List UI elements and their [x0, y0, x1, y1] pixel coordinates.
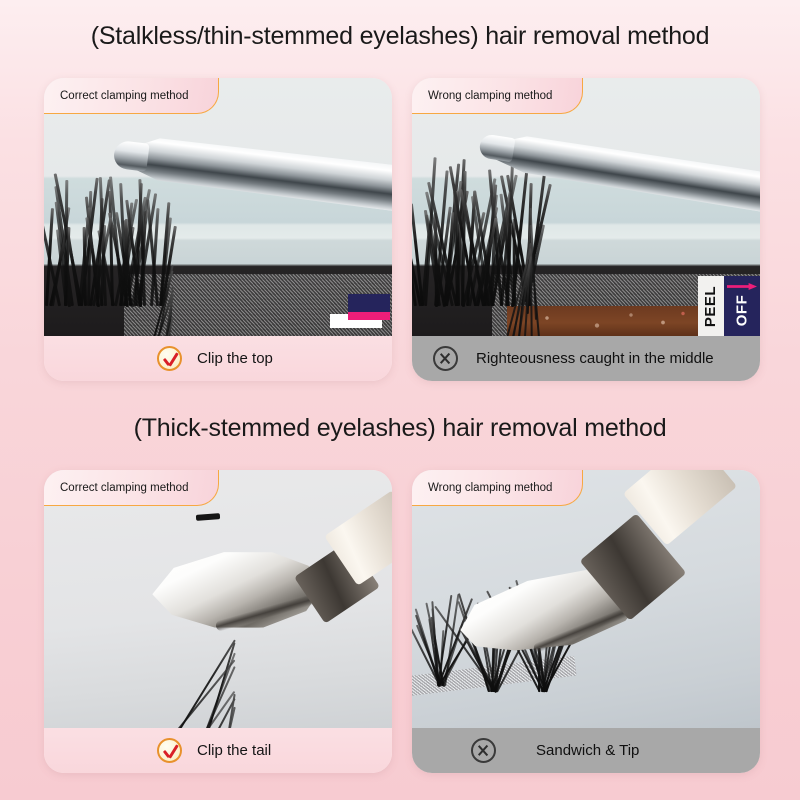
caption-text: Clip the top: [197, 350, 273, 367]
tweezer-tip: [478, 133, 515, 162]
tab-label-correct-bottom: Correct clamping method: [44, 470, 219, 506]
card-top-right[interactable]: PEEL OFF Wrong clamping method Righteous…: [412, 78, 760, 381]
peel-text-block: PEEL: [698, 276, 724, 336]
pink-strip: [348, 312, 390, 320]
caption-text: Sandwich & Tip: [536, 742, 639, 759]
tab-text: Wrong clamping method: [428, 482, 552, 494]
tab-text: Correct clamping method: [60, 90, 188, 102]
tab-label-wrong-bottom: Wrong clamping method: [412, 470, 583, 506]
check-circle-icon: [157, 346, 182, 371]
caption-bar-sandwich-tip: Sandwich & Tip: [412, 728, 760, 773]
tab-text: Correct clamping method: [60, 482, 188, 494]
navy-strip: [348, 294, 390, 314]
caption-bar-righteousness: Righteousness caught in the middle: [412, 336, 760, 381]
off-text: OFF: [734, 294, 751, 326]
pinched-lash-hairs: [490, 103, 620, 283]
tab-label-correct-top: Correct clamping method: [44, 78, 219, 114]
tweezer-tip: [112, 140, 149, 172]
tab-label-wrong-top: Wrong clamping method: [412, 78, 583, 114]
curved-tweezer: [458, 500, 728, 670]
off-text-block: OFF: [724, 276, 760, 336]
tab-text: Wrong clamping method: [428, 90, 552, 102]
caption-bar-clip-the-tail: Clip the tail: [44, 728, 392, 773]
page-title-top: (Stalkless/thin-stemmed eyelashes) hair …: [0, 22, 800, 51]
x-circle-icon: [471, 738, 496, 763]
card-bottom-left[interactable]: Correct clamping method Clip the tail: [44, 470, 392, 773]
photo-top-left: [44, 78, 392, 336]
page-title-middle: (Thick-stemmed eyelashes) hair removal m…: [0, 414, 800, 443]
arrow-right-icon: [727, 283, 757, 290]
curved-tweezer: [152, 536, 392, 666]
caption-text: Clip the tail: [197, 742, 271, 759]
photo-top-right: PEEL OFF: [412, 78, 760, 336]
peel-text: PEEL: [703, 285, 720, 326]
photo-bottom-left: [44, 470, 392, 728]
lash-fan-cluster: [44, 166, 164, 306]
photo-bottom-right: [412, 470, 760, 728]
card-bottom-right[interactable]: Wrong clamping method Sandwich & Tip: [412, 470, 760, 773]
card-top-left[interactable]: Correct clamping method Clip the top: [44, 78, 392, 381]
caption-text: Righteousness caught in the middle: [476, 350, 714, 367]
peel-off-label: PEEL OFF: [698, 276, 760, 336]
check-circle-icon: [157, 738, 182, 763]
x-circle-icon: [433, 346, 458, 371]
gripped-lash-hairs: [162, 198, 282, 308]
caption-bar-clip-the-top: Clip the top: [44, 336, 392, 381]
